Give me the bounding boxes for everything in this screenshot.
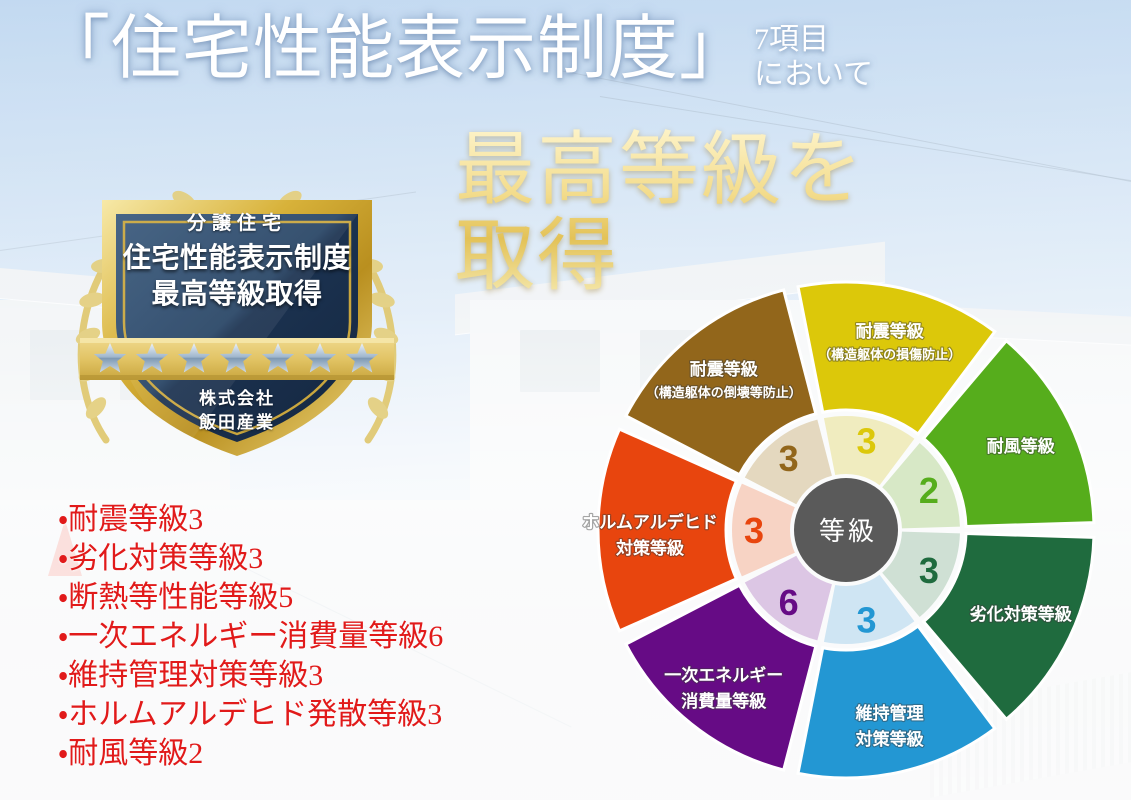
list-item: 劣化対策等級3 xyxy=(58,539,443,578)
list-item: 一次エネルギー消費量等級6 xyxy=(58,617,443,656)
list-item: 維持管理対策等級3 xyxy=(58,656,443,695)
pie-segment-sublabel: （構造躯体の倒壊等防止） xyxy=(646,385,802,400)
pie-segment-sublabel: 対策等級 xyxy=(855,729,925,749)
pie-grade-value: 3 xyxy=(744,510,764,551)
pie-segment-label: 維持管理 xyxy=(855,703,924,723)
headline-sub-line2: において xyxy=(754,58,873,91)
pie-segment-label: 耐震等級 xyxy=(856,321,925,341)
pie-grade-value: 6 xyxy=(779,582,799,623)
headline-main: 「住宅性能表示制度」 xyxy=(40,14,750,87)
pie-segment-label: ホルムアルデヒド xyxy=(582,512,718,532)
badge-title-line1: 住宅性能表示制度 xyxy=(72,236,402,276)
pie-segment-label: 一次エネルギー xyxy=(664,665,783,685)
pie-chart-graphic: 3耐震等級（構造躯体の倒壊等防止）3耐震等級（構造躯体の損傷防止）2耐風等級3劣… xyxy=(586,276,1106,784)
pie-segment-label: 耐震等級 xyxy=(690,359,759,379)
list-item: 耐震等級3 xyxy=(58,500,443,539)
pie-hub-label: 等級 xyxy=(819,516,877,546)
pie-grade-value: 3 xyxy=(779,438,799,479)
poster-canvas: 「住宅性能表示制度」 7項目 において 最高等級を 取得 xyxy=(0,0,1131,800)
badge-company-line2: 飯田産業 xyxy=(72,408,402,433)
pie-segment-sublabel: （構造躯体の損傷防止） xyxy=(818,347,961,362)
grade-bullet-list: 耐震等級3 劣化対策等級3 断熱等性能等級5 一次エネルギー消費量等級6 維持管… xyxy=(58,500,443,773)
pie-segment-sublabel: 対策等級 xyxy=(615,538,685,558)
grade-pie-chart: 3耐震等級（構造躯体の倒壊等防止）3耐震等級（構造躯体の損傷防止）2耐風等級3劣… xyxy=(586,276,1106,784)
pie-segment-label: 劣化対策等級 xyxy=(970,604,1073,624)
badge-title-line2: 最高等級取得 xyxy=(72,272,402,312)
pie-grade-value: 3 xyxy=(919,550,939,591)
gold-headline: 最高等級を 取得 xyxy=(455,128,865,301)
list-item: 断熱等性能等級5 xyxy=(58,578,443,617)
badge-kind: 分譲住宅 xyxy=(72,208,402,235)
list-item: ホルムアルデヒド発散等級3 xyxy=(58,695,443,734)
list-item: 耐風等級2 xyxy=(58,734,443,773)
page-title: 「住宅性能表示制度」 7項目 において xyxy=(40,14,873,93)
pie-grade-value: 3 xyxy=(856,420,876,461)
certification-badge: 分譲住宅 住宅性能表示制度 最高等級取得 株式会社 飯田産業 xyxy=(72,172,402,462)
headline-sub-line1: 7項目 xyxy=(754,23,829,56)
pie-grade-value: 2 xyxy=(919,470,939,511)
pie-grade-value: 3 xyxy=(856,600,876,641)
pie-segment-sublabel: 消費量等級 xyxy=(681,691,767,711)
gold-headline-line1: 最高等級を xyxy=(455,127,865,215)
badge-company-line1: 株式会社 xyxy=(72,384,402,409)
pie-segment-label: 耐風等級 xyxy=(987,436,1056,456)
headline-sub: 7項目 において xyxy=(754,22,873,93)
